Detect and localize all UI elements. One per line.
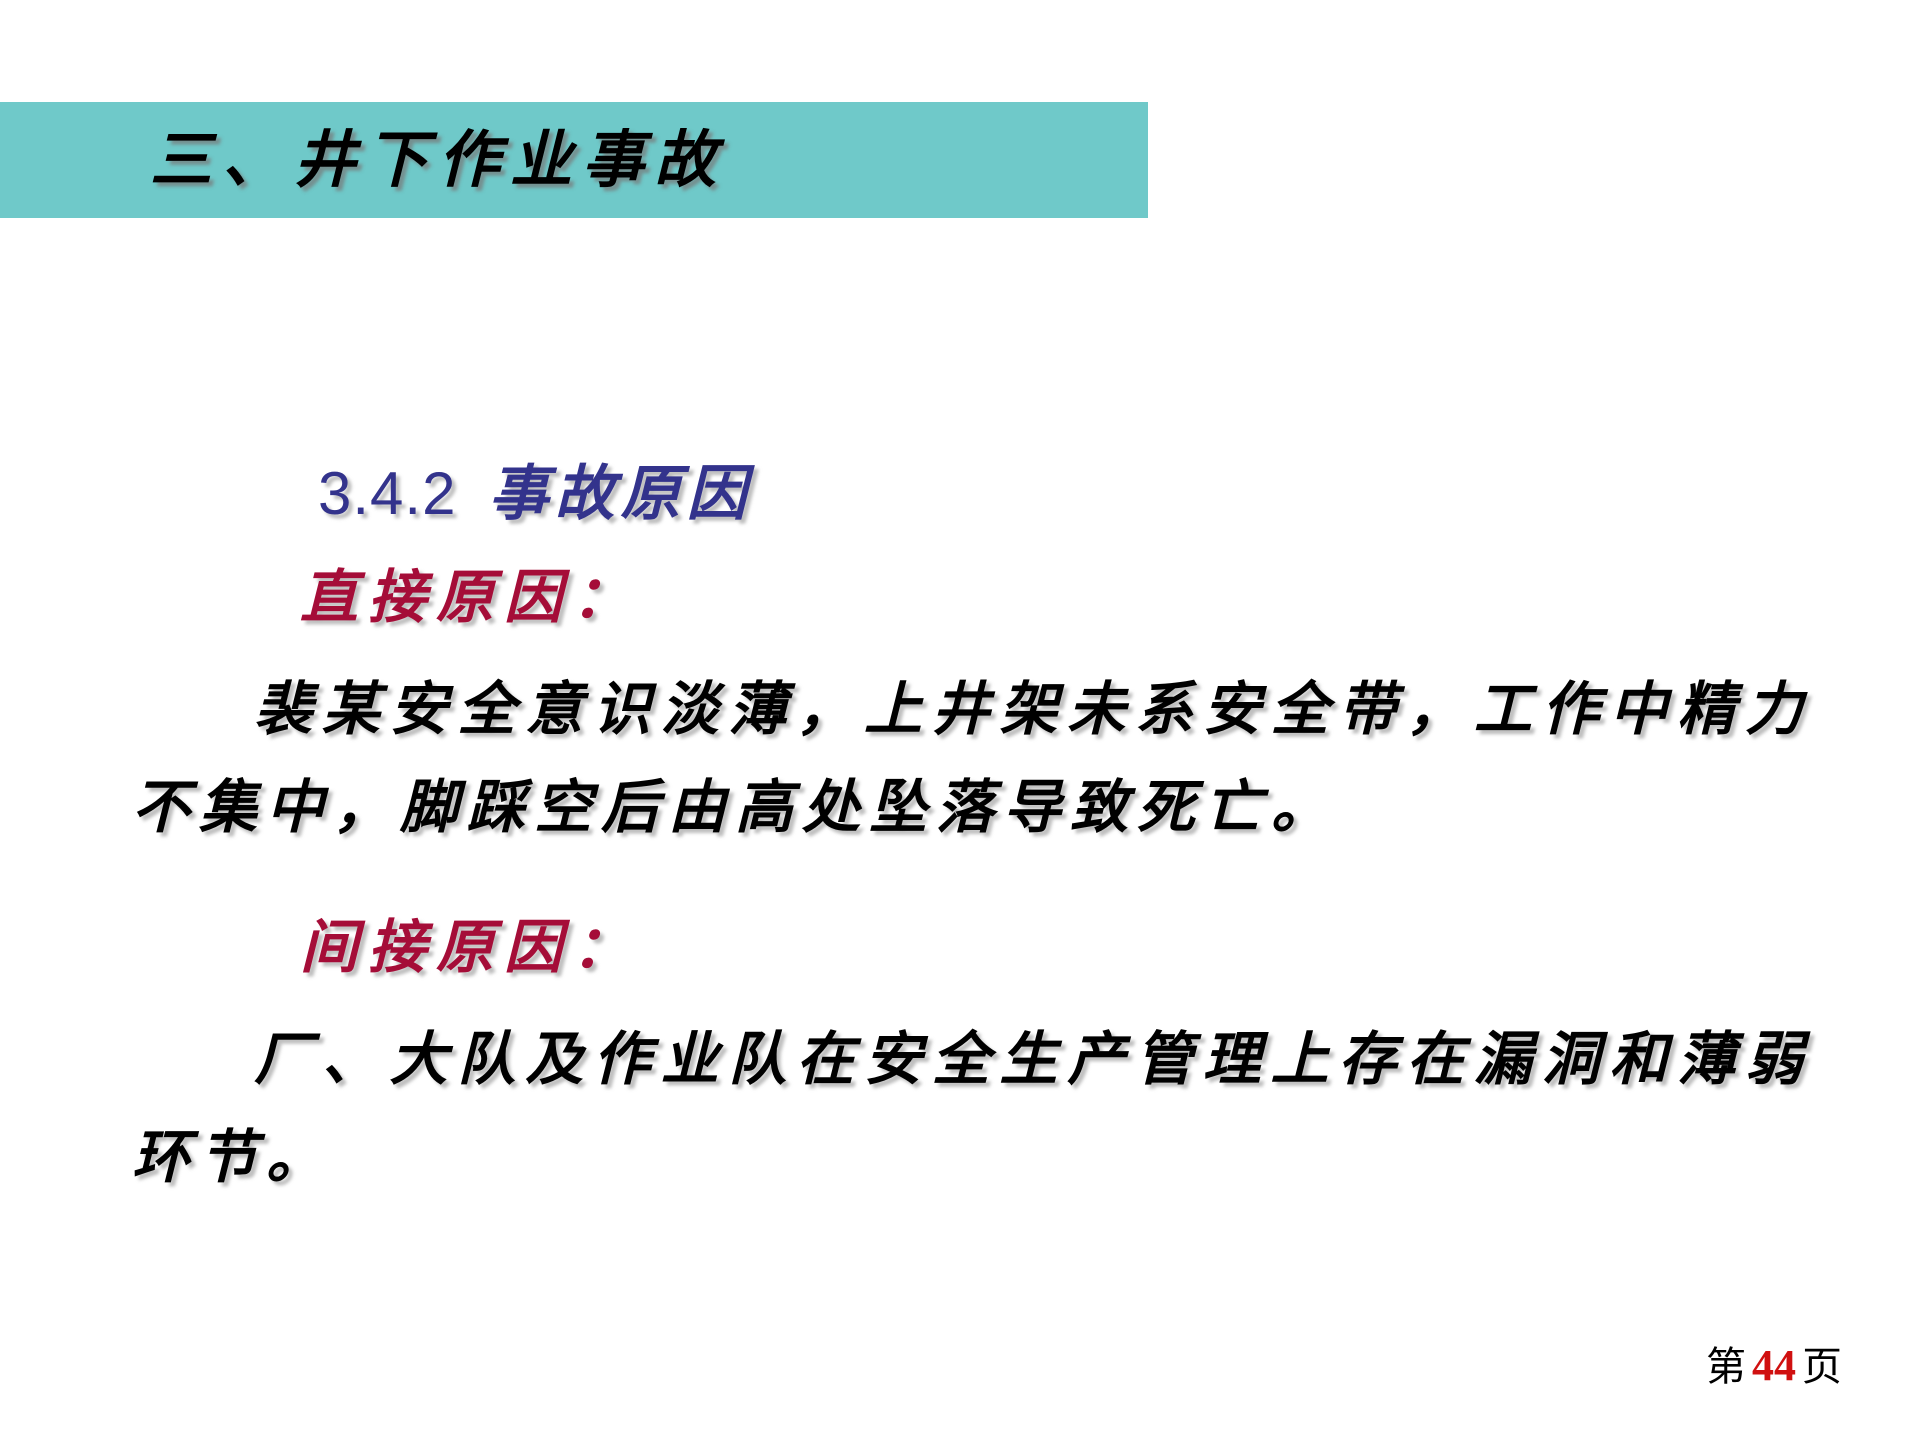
footer-prefix: 第 — [1706, 1344, 1746, 1389]
section-number: 3.4.2 — [318, 460, 456, 527]
indirect-cause-body: 厂、大队及作业队在安全生产管理上存在漏洞和薄弱环节。 — [132, 1010, 1812, 1206]
indirect-cause-label: 间接原因： — [300, 900, 640, 984]
page-footer: 第44页 — [1706, 1334, 1842, 1392]
footer-suffix: 页 — [1802, 1344, 1842, 1389]
section-heading: 3.4.2事故原因 — [318, 445, 752, 532]
section-title: 事故原因 — [488, 459, 752, 529]
page-title: 三、井下作业事故 — [150, 104, 1110, 216]
direct-cause-body: 裴某安全意识淡薄，上井架未系安全带，工作中精力不集中，脚踩空后由高处坠落导致死亡… — [132, 660, 1812, 856]
footer-page-number: 44 — [1752, 1341, 1796, 1390]
slide-canvas: 三、井下作业事故 3.4.2事故原因 直接原因： 裴某安全意识淡薄，上井架未系安… — [0, 0, 1920, 1440]
direct-cause-label: 直接原因： — [300, 550, 640, 634]
